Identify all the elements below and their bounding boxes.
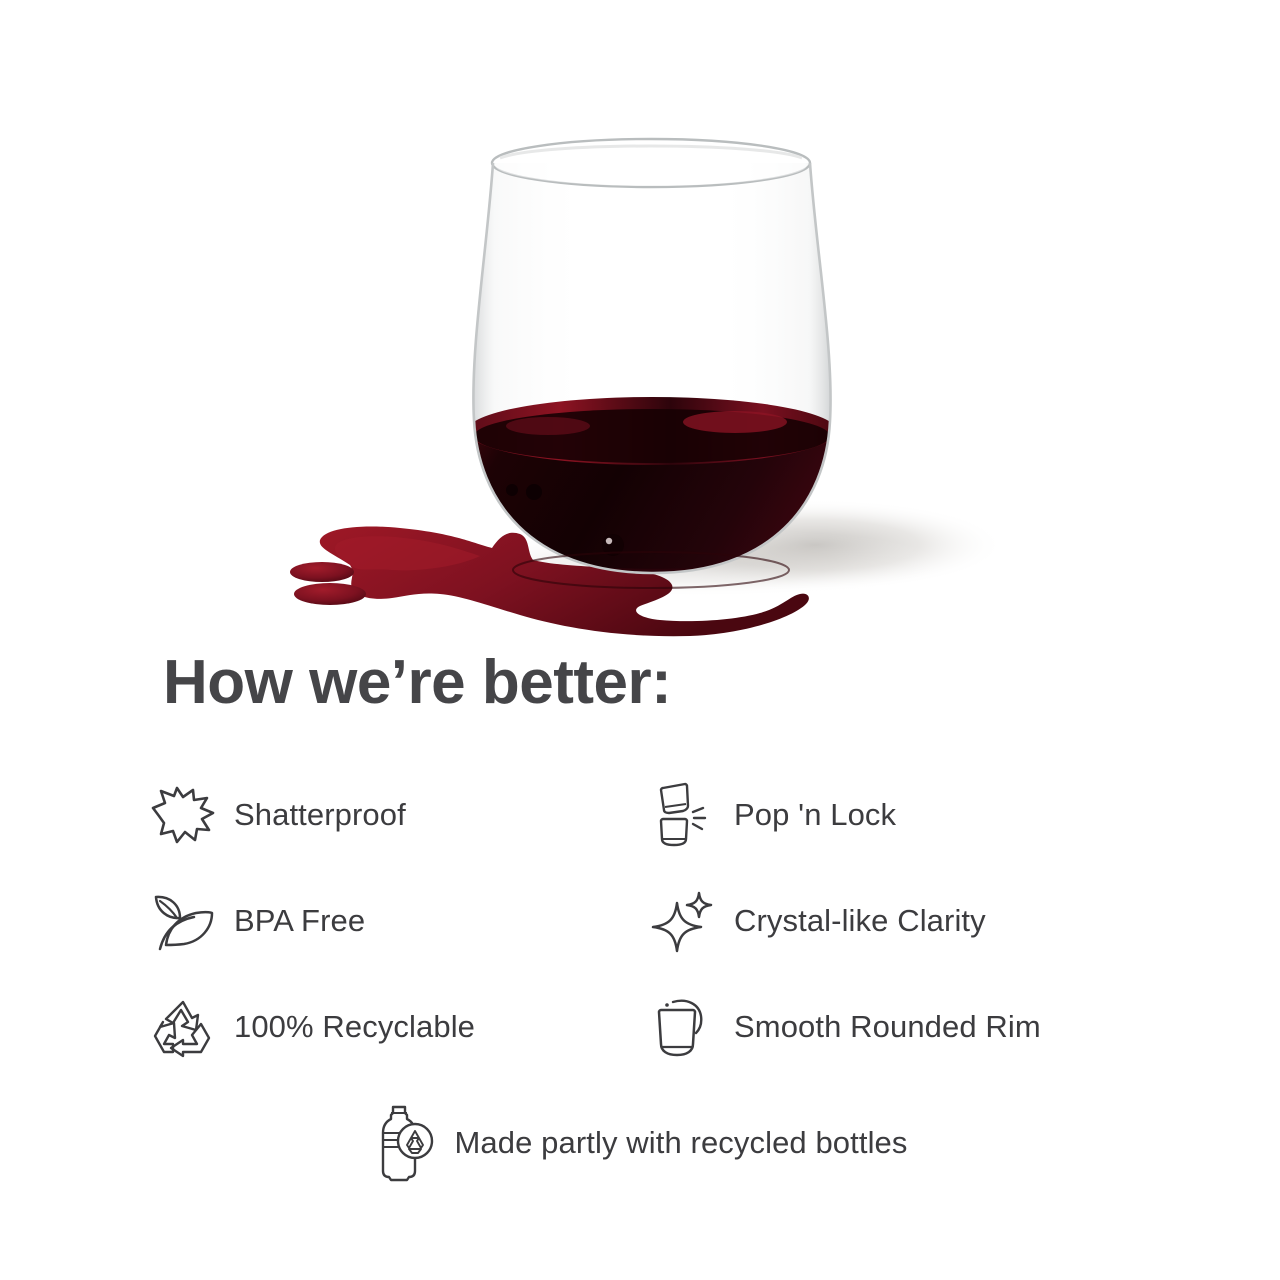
feature-label: Made partly with recycled bottles: [455, 1125, 908, 1161]
feature-pop-n-lock: Pop 'n Lock: [650, 762, 1170, 868]
stacked-glasses-icon: [650, 782, 716, 848]
feature-shatterproof: Shatterproof: [150, 762, 650, 868]
feature-row: BPA Free Crystal-like Clarity: [150, 868, 1190, 974]
feature-crystal-like-clarity: Crystal-like Clarity: [650, 868, 1170, 974]
feature-label: Shatterproof: [234, 797, 406, 833]
hero-product-image: [0, 0, 1280, 645]
feature-row: 100% Recyclable Smooth Rounded Rim: [150, 974, 1190, 1080]
feature-label: Smooth Rounded Rim: [734, 1009, 1041, 1045]
feature-label: Crystal-like Clarity: [734, 903, 986, 939]
wine-glass-illustration: [0, 0, 1280, 645]
feature-label: 100% Recyclable: [234, 1009, 475, 1045]
feature-smooth-rounded-rim: Smooth Rounded Rim: [650, 974, 1170, 1080]
feature-recycled-bottles: Made partly with recycled bottles: [0, 1104, 1280, 1182]
feature-recyclable: 100% Recyclable: [150, 974, 650, 1080]
wine-droplet-upper: [290, 562, 354, 582]
feature-bpa-free: BPA Free: [150, 868, 650, 974]
wine-droplet-lower: [294, 583, 366, 605]
product-feature-page: How we’re better: Shatterproof: [0, 0, 1280, 1280]
feature-row: Shatterproof Pop 'n Lock: [150, 762, 1190, 868]
feature-label: Pop 'n Lock: [734, 797, 896, 833]
glass-rim-icon: [650, 994, 716, 1060]
recycle-triangle-icon: [150, 994, 216, 1060]
feature-list: Shatterproof Pop 'n Lock: [150, 762, 1190, 1080]
page-title: How we’re better:: [163, 652, 671, 714]
burst-icon: [150, 782, 216, 848]
recycled-bottle-icon: [373, 1104, 435, 1182]
sparkle-icon: [650, 888, 716, 954]
leaf-sprout-icon: [150, 888, 216, 954]
feature-label: BPA Free: [234, 903, 365, 939]
